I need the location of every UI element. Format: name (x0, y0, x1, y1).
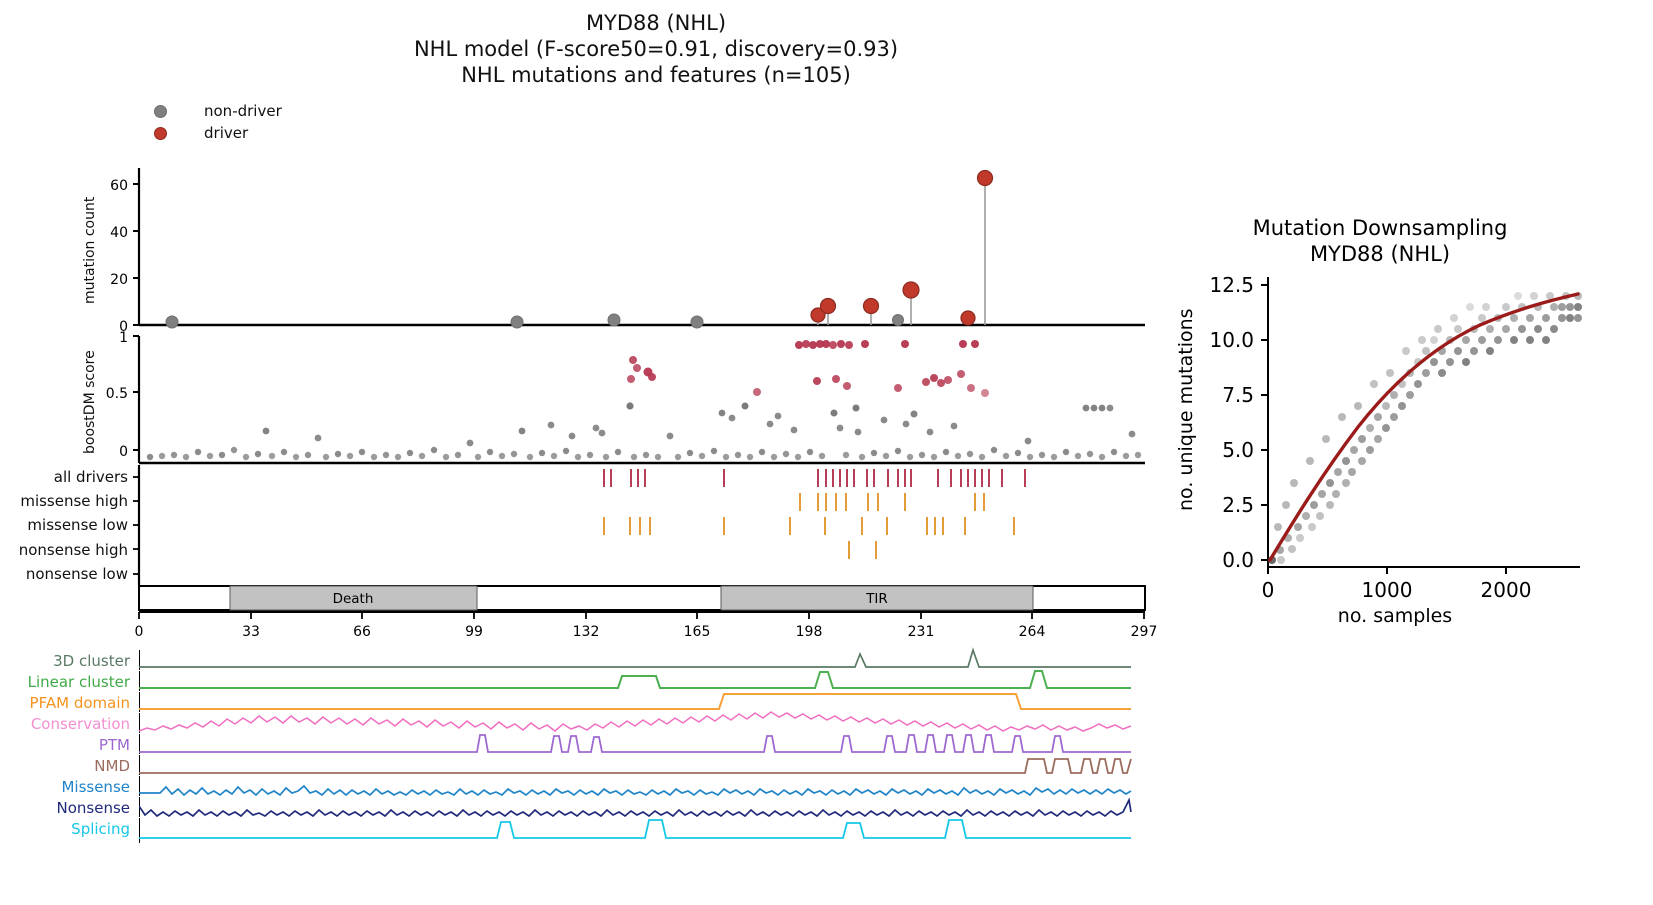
driver-track-label-missense-high: missense high (0, 492, 128, 510)
track-nonsense (139, 800, 1131, 816)
track-linear-cluster (139, 671, 1131, 688)
pfam-domain-label-death: Death (333, 591, 374, 607)
needle-plot-panel: mutation count boostDM score 60 40 20 0 (0, 0, 1160, 905)
feature-track-label-conservation: Conservation (0, 715, 130, 733)
svg-text:1000: 1000 (1362, 578, 1413, 602)
svg-text:198: 198 (796, 624, 823, 640)
protein-position-axis: 033 6699 132165 198231 264297 (135, 612, 1158, 640)
needle-plot-svg: 60 40 20 0 (0, 0, 1160, 905)
driver-tracks-axes (133, 465, 139, 585)
svg-text:2.5: 2.5 (1222, 493, 1254, 517)
driver-track-label-missense-low: missense low (0, 516, 128, 534)
downsampling-panel: Mutation Downsampling MYD88 (NHL) no. un… (1180, 215, 1600, 645)
svg-text:0.0: 0.0 (1222, 548, 1254, 572)
svg-text:60: 60 (110, 178, 128, 194)
svg-text:264: 264 (1019, 624, 1046, 640)
track-missense (139, 786, 1131, 795)
feature-track-label-missense: Missense (0, 778, 130, 796)
svg-text:10.0: 10.0 (1209, 328, 1254, 352)
lollipop-markers[interactable] (166, 171, 993, 329)
downsampling-fit-curve (1270, 294, 1578, 560)
svg-text:99: 99 (465, 624, 483, 640)
svg-text:40: 40 (110, 225, 128, 241)
svg-text:165: 165 (684, 624, 711, 640)
downsampling-points (1268, 292, 1582, 564)
svg-text:7.5: 7.5 (1222, 383, 1254, 407)
feature-track-label-3d-cluster: 3D cluster (0, 652, 130, 670)
feature-track-label-nonsense: Nonsense (0, 799, 130, 817)
boostdm-score-points[interactable] (147, 340, 1141, 460)
track-nmd (139, 759, 1131, 773)
pfam-domain-bar[interactable]: Death TIR (139, 586, 1145, 610)
pfam-domain-label-tir: TIR (865, 591, 888, 607)
feature-track-label-nmd: NMD (0, 757, 130, 775)
driver-track-label-all-drivers: all drivers (0, 468, 128, 486)
feature-track-label-splicing: Splicing (0, 820, 130, 838)
svg-text:20: 20 (110, 272, 128, 288)
svg-text:33: 33 (242, 624, 260, 640)
svg-text:132: 132 (573, 624, 600, 640)
svg-text:297: 297 (1131, 624, 1158, 640)
svg-text:0: 0 (119, 444, 128, 460)
svg-text:0: 0 (135, 624, 144, 640)
track-conservation (139, 712, 1131, 731)
boostdm-axes: 1 0.5 0 (106, 330, 1145, 463)
driver-track-label-nonsense-low: nonsense low (0, 565, 128, 583)
driver-track-ticks (604, 469, 1025, 559)
feature-track-label-pfam-domain: PFAM domain (0, 694, 130, 712)
downsampling-svg: 12.510.0 7.55.0 2.50.0 010002000 (1180, 215, 1600, 615)
feature-track-label-linear-cluster: Linear cluster (0, 673, 130, 691)
svg-text:12.5: 12.5 (1209, 273, 1254, 297)
driver-track-label-nonsense-high: nonsense high (0, 541, 128, 559)
svg-text:0.5: 0.5 (106, 386, 128, 402)
downsampling-axes: 12.510.0 7.55.0 2.50.0 010002000 (1209, 273, 1580, 602)
svg-text:1: 1 (119, 330, 128, 346)
track-splicing (139, 820, 1131, 838)
svg-text:2000: 2000 (1481, 578, 1532, 602)
svg-text:231: 231 (908, 624, 935, 640)
feature-tracks (139, 650, 1131, 843)
svg-text:0: 0 (1262, 578, 1275, 602)
mutation-count-axes: 60 40 20 0 (110, 168, 1145, 335)
track-ptm (139, 735, 1131, 752)
svg-text:5.0: 5.0 (1222, 438, 1254, 462)
svg-text:66: 66 (353, 624, 371, 640)
track-pfam-domain (139, 694, 1131, 709)
feature-track-label-ptm: PTM (0, 736, 130, 754)
track-3d-cluster (139, 650, 1131, 667)
